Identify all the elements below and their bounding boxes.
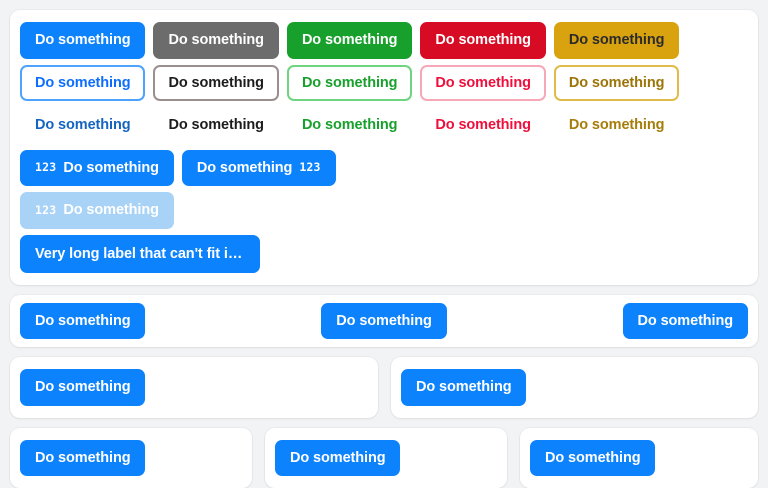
outline-secondary-button[interactable]: Do something xyxy=(153,65,278,102)
link-primary-button[interactable]: Do something xyxy=(20,107,145,144)
outline-success-button[interactable]: Do something xyxy=(287,65,412,102)
alignment-card: Do something Do something Do something xyxy=(10,295,758,347)
three-column-card-1: Do something xyxy=(10,428,252,488)
link-danger-button[interactable]: Do something xyxy=(420,107,545,144)
three-column-button-1[interactable]: Do something xyxy=(20,440,145,477)
three-column-strip: Do something Do something Do something xyxy=(10,428,758,488)
three-column-card-2: Do something xyxy=(265,428,507,488)
link-success-button[interactable]: Do something xyxy=(287,107,412,144)
two-column-button-2[interactable]: Do something xyxy=(401,369,526,406)
three-column-button-2[interactable]: Do something xyxy=(275,440,400,477)
solid-success-button[interactable]: Do something xyxy=(287,22,412,59)
align-center-button[interactable]: Do something xyxy=(321,303,446,340)
outline-primary-button[interactable]: Do something xyxy=(20,65,145,102)
two-column-button-1[interactable]: Do something xyxy=(20,369,145,406)
icon-left-button-label: Do something xyxy=(63,161,158,176)
solid-danger-button[interactable]: Do something xyxy=(420,22,545,59)
two-column-strip: Do something Do something xyxy=(10,357,758,418)
three-column-card-3: Do something xyxy=(520,428,758,488)
outline-danger-button[interactable]: Do something xyxy=(420,65,545,102)
disabled-button: 123 Do something xyxy=(20,192,174,229)
icon-button-row: 123 Do something Do something 123 xyxy=(20,150,748,187)
link-button-row: Do something Do something Do something D… xyxy=(20,107,748,144)
disabled-button-label: Do something xyxy=(63,203,158,218)
123-icon: 123 xyxy=(299,162,320,174)
outline-warning-button[interactable]: Do something xyxy=(554,65,679,102)
icon-left-button[interactable]: 123 Do something xyxy=(20,150,174,187)
disabled-button-row: 123 Do something xyxy=(20,192,748,229)
outline-button-row: Do something Do something Do something D… xyxy=(20,65,748,102)
page-root: Do something Do something Do something D… xyxy=(0,0,768,446)
solid-button-row: Do something Do something Do something D… xyxy=(20,22,748,59)
button-variants-card: Do something Do something Do something D… xyxy=(10,10,758,285)
123-icon: 123 xyxy=(35,205,56,217)
icon-right-button[interactable]: Do something 123 xyxy=(182,150,336,187)
align-left-button[interactable]: Do something xyxy=(20,303,145,340)
three-column-button-3[interactable]: Do something xyxy=(530,440,655,477)
solid-primary-button[interactable]: Do something xyxy=(20,22,145,59)
solid-warning-button[interactable]: Do something xyxy=(554,22,679,59)
two-column-card-2: Do something xyxy=(391,357,758,418)
two-column-card-1: Do something xyxy=(10,357,378,418)
align-right-button[interactable]: Do something xyxy=(623,303,748,340)
truncated-label-button[interactable]: Very long label that can't fit in … xyxy=(20,235,260,274)
link-secondary-button[interactable]: Do something xyxy=(153,107,278,144)
truncated-button-row: Very long label that can't fit in … xyxy=(20,235,748,274)
icon-right-button-label: Do something xyxy=(197,161,292,176)
link-warning-button[interactable]: Do something xyxy=(554,107,679,144)
solid-secondary-button[interactable]: Do something xyxy=(153,22,278,59)
123-icon: 123 xyxy=(35,162,56,174)
